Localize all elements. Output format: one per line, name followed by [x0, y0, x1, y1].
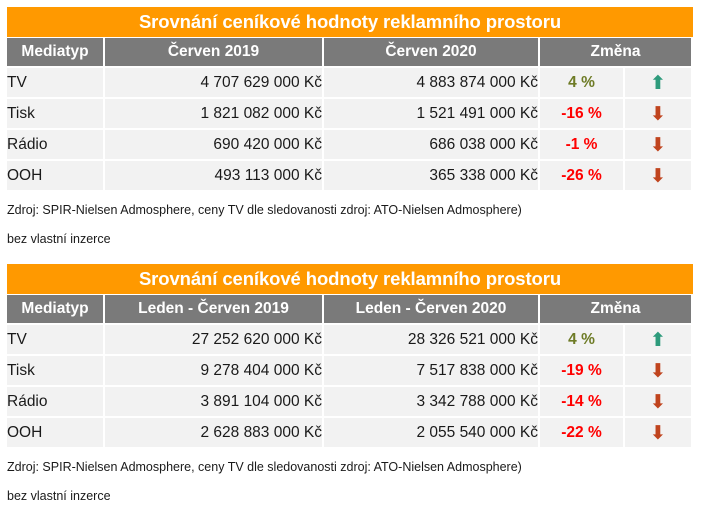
source-note-line: bez vlastní inzerce — [7, 489, 111, 503]
cell-change-percent: 4 % — [540, 68, 625, 99]
cell-value-period-b: 28 326 521 000 Kč — [324, 325, 540, 356]
cell-value-period-a: 9 278 404 000 Kč — [105, 356, 324, 387]
table-row: TV 27 252 620 000 Kč 28 326 521 000 Kč 4… — [7, 325, 693, 356]
cell-value-period-a: 493 113 000 Kč — [105, 161, 324, 192]
table-header-row: Mediatyp Leden - Červen 2019 Leden - Čer… — [7, 295, 693, 325]
cell-value-period-b: 365 338 000 Kč — [324, 161, 540, 192]
cell-mediatype: Tisk — [7, 99, 105, 130]
table-title: Srovnání ceníkové hodnoty reklamního pro… — [7, 7, 693, 37]
column-header-period-b: Červen 2020 — [324, 38, 540, 68]
arrow-down-icon: ⬇ — [650, 105, 666, 124]
table-row: OOH 2 628 883 000 Kč 2 055 540 000 Kč -2… — [7, 418, 693, 449]
table-row: Rádio 690 420 000 Kč 686 038 000 Kč -1 %… — [7, 130, 693, 161]
cell-mediatype: TV — [7, 68, 105, 99]
table-row: Tisk 1 821 082 000 Kč 1 521 491 000 Kč -… — [7, 99, 693, 130]
cell-mediatype: Rádio — [7, 130, 105, 161]
cell-change-percent: -22 % — [540, 418, 625, 449]
column-header-period-a: Červen 2019 — [105, 38, 324, 68]
comparison-table-block-monthly: Srovnání ceníkové hodnoty reklamního pro… — [7, 7, 693, 192]
cell-change-direction: ⬆ — [625, 325, 693, 356]
table-header-row: Mediatyp Červen 2019 Červen 2020 Změna — [7, 38, 693, 68]
arrow-down-icon: ⬇ — [650, 424, 666, 443]
cell-value-period-b: 1 521 491 000 Kč — [324, 99, 540, 130]
cell-change-percent: -14 % — [540, 387, 625, 418]
table-title: Srovnání ceníkové hodnoty reklamního pro… — [7, 264, 693, 294]
cell-change-direction: ⬆ — [625, 68, 693, 99]
cell-change-percent: -19 % — [540, 356, 625, 387]
arrow-up-icon: ⬆ — [650, 74, 666, 93]
cell-change-direction: ⬇ — [625, 161, 693, 192]
cell-value-period-a: 2 628 883 000 Kč — [105, 418, 324, 449]
arrow-down-icon: ⬇ — [650, 167, 666, 186]
column-header-change: Změna — [540, 38, 693, 68]
cell-change-direction: ⬇ — [625, 418, 693, 449]
cell-mediatype: OOH — [7, 418, 105, 449]
cell-change-percent: 4 % — [540, 325, 625, 356]
source-note-line: bez vlastní inzerce — [7, 232, 111, 246]
cell-value-period-a: 4 707 629 000 Kč — [105, 68, 324, 99]
cell-value-period-b: 2 055 540 000 Kč — [324, 418, 540, 449]
cell-change-percent: -26 % — [540, 161, 625, 192]
column-header-change: Změna — [540, 295, 693, 325]
arrow-up-icon: ⬆ — [650, 331, 666, 350]
cell-value-period-b: 4 883 874 000 Kč — [324, 68, 540, 99]
cell-change-percent: -1 % — [540, 130, 625, 161]
table-row: TV 4 707 629 000 Kč 4 883 874 000 Kč 4 %… — [7, 68, 693, 99]
cell-change-direction: ⬇ — [625, 387, 693, 418]
cell-value-period-a: 1 821 082 000 Kč — [105, 99, 324, 130]
column-header-mediatype: Mediatyp — [7, 295, 105, 325]
column-header-mediatype: Mediatyp — [7, 38, 105, 68]
arrow-down-icon: ⬇ — [650, 362, 666, 381]
cell-mediatype: TV — [7, 325, 105, 356]
price-comparison-table-monthly: Mediatyp Červen 2019 Červen 2020 Změna T… — [7, 38, 693, 192]
cell-value-period-a: 690 420 000 Kč — [105, 130, 324, 161]
cell-change-direction: ⬇ — [625, 99, 693, 130]
cell-mediatype: Rádio — [7, 387, 105, 418]
table-row: OOH 493 113 000 Kč 365 338 000 Kč -26 % … — [7, 161, 693, 192]
arrow-down-icon: ⬇ — [650, 136, 666, 155]
cell-mediatype: Tisk — [7, 356, 105, 387]
cell-value-period-b: 3 342 788 000 Kč — [324, 387, 540, 418]
arrow-down-icon: ⬇ — [650, 393, 666, 412]
cell-change-percent: -16 % — [540, 99, 625, 130]
comparison-table-block-cumulative: Srovnání ceníkové hodnoty reklamního pro… — [7, 264, 693, 449]
table-row: Tisk 9 278 404 000 Kč 7 517 838 000 Kč -… — [7, 356, 693, 387]
source-note-line: Zdroj: SPIR-Nielsen Admosphere, ceny TV … — [7, 203, 522, 217]
cell-change-direction: ⬇ — [625, 356, 693, 387]
cell-change-direction: ⬇ — [625, 130, 693, 161]
table-row: Rádio 3 891 104 000 Kč 3 342 788 000 Kč … — [7, 387, 693, 418]
price-comparison-table-cumulative: Mediatyp Leden - Červen 2019 Leden - Čer… — [7, 295, 693, 449]
column-header-period-b: Leden - Červen 2020 — [324, 295, 540, 325]
cell-value-period-b: 686 038 000 Kč — [324, 130, 540, 161]
cell-value-period-a: 27 252 620 000 Kč — [105, 325, 324, 356]
cell-value-period-a: 3 891 104 000 Kč — [105, 387, 324, 418]
column-header-period-a: Leden - Červen 2019 — [105, 295, 324, 325]
cell-value-period-b: 7 517 838 000 Kč — [324, 356, 540, 387]
source-note-line: Zdroj: SPIR-Nielsen Admosphere, ceny TV … — [7, 460, 522, 474]
cell-mediatype: OOH — [7, 161, 105, 192]
